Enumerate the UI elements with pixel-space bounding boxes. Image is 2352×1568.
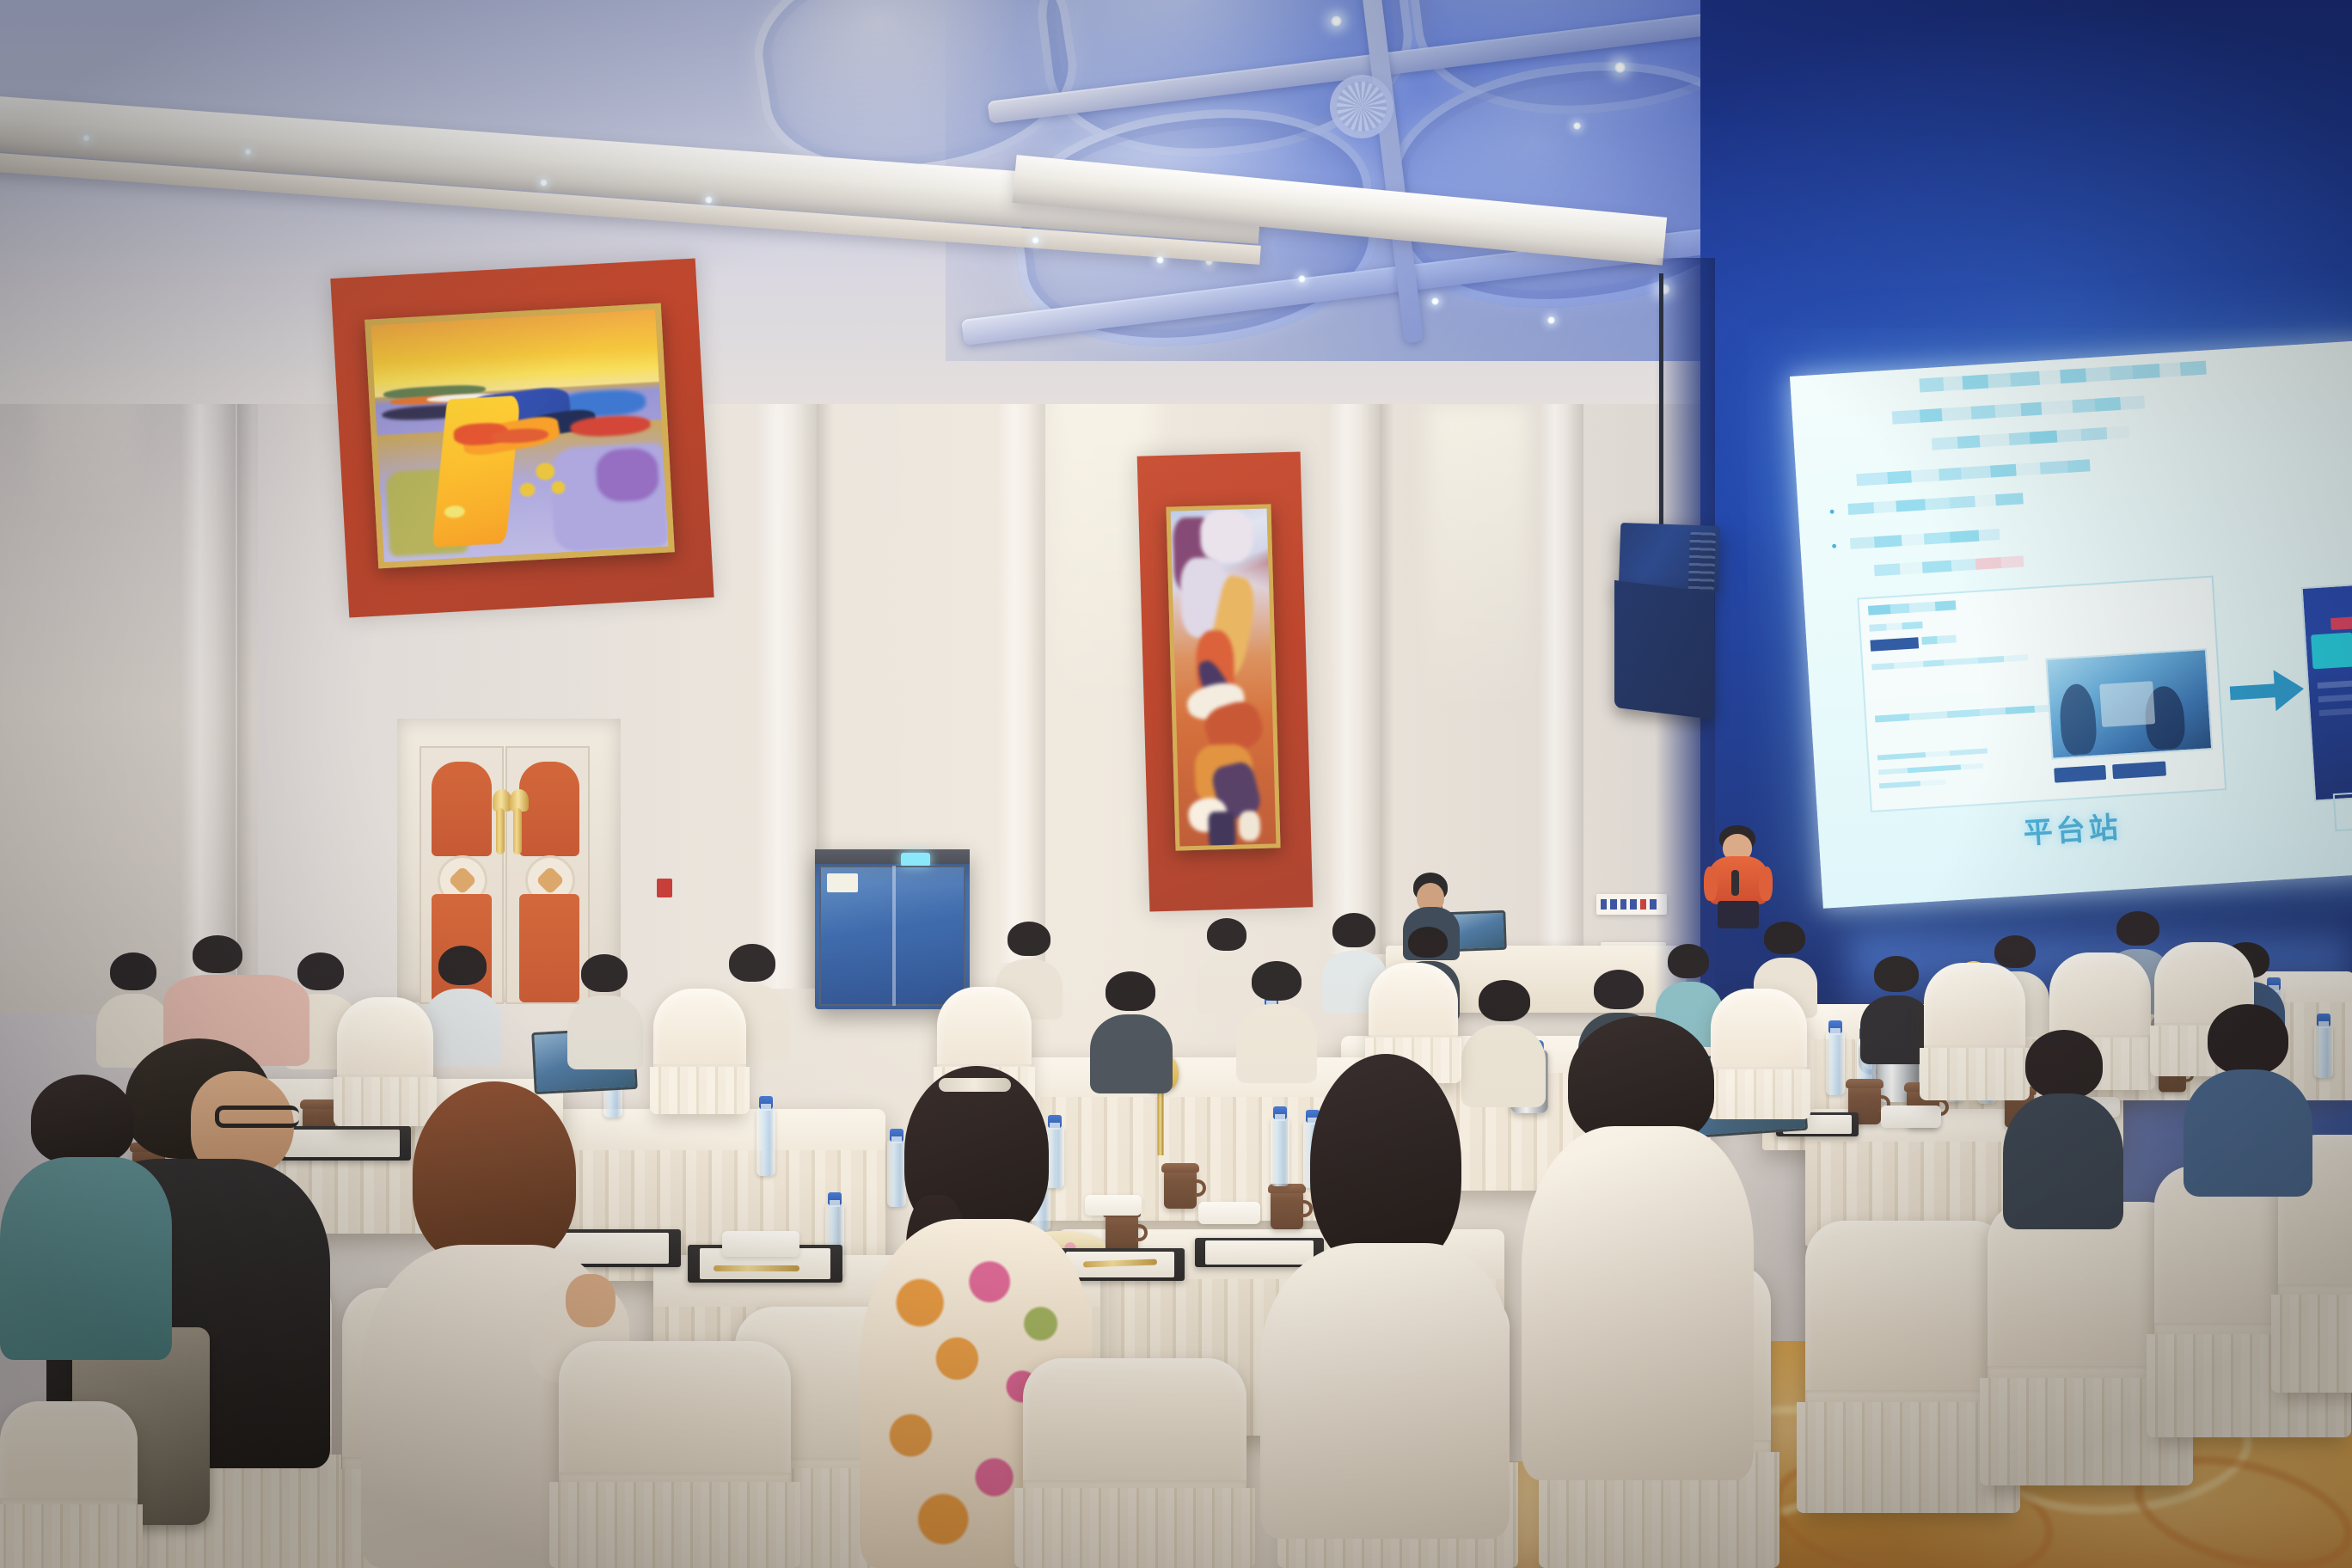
- fridge-door-seam: [892, 866, 896, 1007]
- attendee: [1260, 1054, 1510, 1535]
- torso: [0, 1157, 172, 1360]
- app-badge: [2331, 616, 2352, 630]
- app-list-row: [2318, 676, 2352, 689]
- slide-action-button[interactable]: [2054, 765, 2106, 783]
- water-bottle[interactable]: [1826, 1032, 1845, 1095]
- glass-door-refrigerator[interactable]: [815, 849, 970, 1009]
- speaker-grill: [1614, 580, 1642, 701]
- hair: [413, 1081, 576, 1266]
- speaker-grill: [1688, 532, 1716, 591]
- ceiling-downlight: [1573, 122, 1581, 130]
- fire-alarm-call-point[interactable]: [657, 879, 672, 897]
- ballroom-presentation-photo: • •: [0, 0, 2352, 1568]
- presenter: [1704, 825, 1773, 927]
- app-list-row: [2318, 690, 2352, 703]
- hair-clip: [939, 1078, 1011, 1092]
- fridge-label: [827, 873, 858, 892]
- slide-bottom-card: [2333, 787, 2352, 831]
- app-banner-cyan: [2311, 633, 2352, 670]
- hand: [566, 1274, 616, 1327]
- ceiling-downlight: [1331, 15, 1342, 27]
- water-bottle[interactable]: [756, 1107, 775, 1176]
- fridge-header: [815, 849, 970, 864]
- cornice-downlight: [540, 179, 548, 187]
- arm: [1704, 867, 1718, 901]
- door-handle-icon[interactable]: [496, 808, 505, 854]
- banquet-chair[interactable]: [559, 1341, 791, 1568]
- banquet-chair[interactable]: [1023, 1358, 1246, 1568]
- attendee: [1090, 971, 1173, 1093]
- cornice-downlight: [1156, 256, 1164, 264]
- slide-photo-thumbnail: [2045, 648, 2213, 760]
- attendee: [1522, 1016, 1754, 1480]
- slide-photo-monitor: [2099, 681, 2156, 727]
- cornice-downlight: [1032, 236, 1039, 244]
- hair: [1310, 1054, 1461, 1272]
- attendee: [567, 954, 643, 1068]
- napkin: [1085, 1195, 1142, 1216]
- ceiling-downlight: [1614, 62, 1626, 73]
- slide-content-card: [1857, 576, 2226, 813]
- redacted-card-title: [1868, 597, 2024, 620]
- handheld-microphone: [1731, 870, 1739, 896]
- banquet-chair[interactable]: [0, 1401, 138, 1568]
- hair: [31, 1075, 134, 1164]
- presenter-skirt: [1718, 901, 1759, 928]
- glasses-icon: [215, 1106, 299, 1128]
- slide-bullet-marker: •: [1828, 503, 1835, 521]
- tea-cup[interactable]: [1164, 1169, 1197, 1209]
- cornice-downlight: [705, 196, 713, 204]
- arm: [1759, 867, 1773, 901]
- torso: [1522, 1126, 1754, 1480]
- cornice-downlight: [83, 134, 90, 142]
- cornice-downlight: [1431, 297, 1439, 305]
- line-array-speaker-lower: [1614, 580, 1714, 720]
- napkin: [1198, 1202, 1260, 1224]
- mobile-app-screenshot: [2301, 579, 2352, 802]
- attendee: [423, 946, 502, 1064]
- redacted-card-meta: [1869, 618, 1973, 635]
- artwork-frame-portrait: [1166, 504, 1280, 850]
- slide-bullet-marker: •: [1831, 537, 1838, 555]
- pen[interactable]: [714, 1265, 799, 1271]
- redacted-card-body: [1871, 654, 2037, 702]
- slide-tag-badge: [1870, 637, 1919, 651]
- slide-caption: 平台站: [2022, 804, 2122, 852]
- banquet-chair[interactable]: [653, 989, 746, 1114]
- speaker-suspension-cable: [1659, 273, 1663, 531]
- cornice-downlight: [244, 148, 252, 156]
- napkin: [1881, 1106, 1941, 1128]
- fridge-display: [901, 853, 930, 867]
- cornice-downlight: [1298, 275, 1306, 283]
- slide-action-button[interactable]: [2112, 761, 2166, 779]
- artwork-frame-landscape: [364, 303, 675, 569]
- napkin: [722, 1231, 799, 1257]
- app-list-row: [2319, 703, 2352, 716]
- wall-light-wash: [1427, 404, 1530, 774]
- attendee-teal-polo: [0, 1075, 172, 1358]
- water-bottle[interactable]: [2314, 1025, 2333, 1078]
- projection-screen: • •: [1790, 340, 2352, 908]
- door-handle-icon[interactable]: [513, 808, 522, 854]
- right-arrow-icon: [2228, 665, 2305, 717]
- attendee: [2184, 1004, 2312, 1193]
- door-panel: [432, 762, 492, 856]
- artwork-canvas-portrait: [1171, 509, 1277, 847]
- projected-slide: • •: [1790, 340, 2352, 908]
- cornice-downlight: [1547, 316, 1555, 324]
- attendee: [2003, 1030, 2123, 1228]
- attendee: [1860, 956, 1932, 1063]
- redacted-card-tags: [1921, 634, 1974, 648]
- redacted-card-list: [1877, 746, 2018, 798]
- artwork-canvas-landscape: [371, 309, 669, 562]
- torso: [1260, 1243, 1510, 1539]
